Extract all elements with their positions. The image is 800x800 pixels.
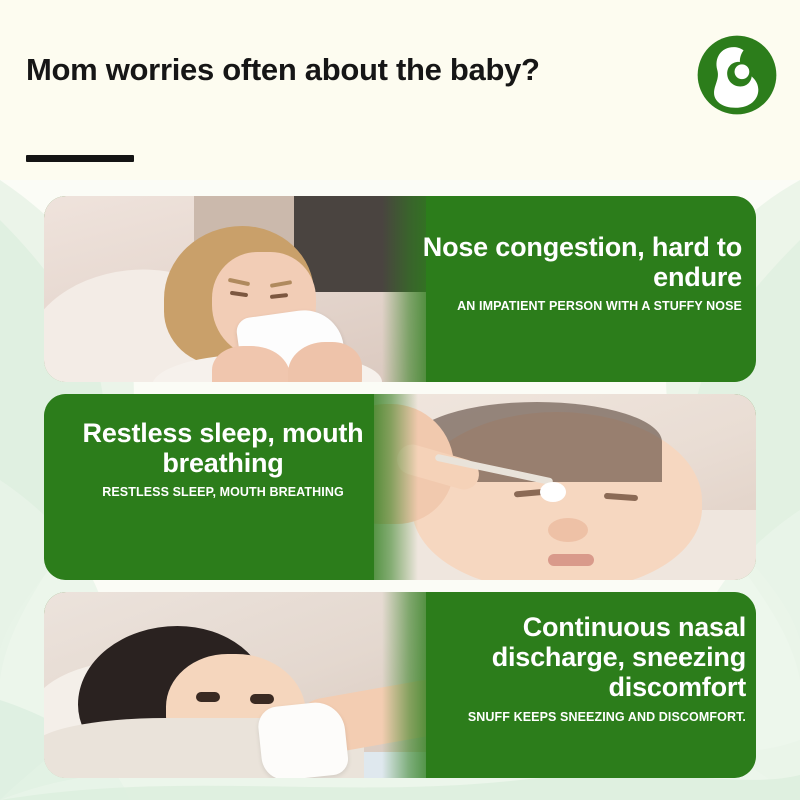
card-nose-congestion[interactable]: Nose congestion, hard to endure AN IMPAT… (44, 196, 756, 382)
card-1-subline: AN IMPATIENT PERSON WITH A STUFFY NOSE (422, 299, 742, 313)
card-3-text-block: Continuous nasal discharge, sneezing dis… (416, 612, 746, 724)
card-restless-sleep[interactable]: Restless sleep, mouth breathing RESTLESS… (44, 394, 756, 580)
page-title: Mom worries often about the baby? (26, 52, 540, 88)
card-2-text-block: Restless sleep, mouth breathing RESTLESS… (60, 418, 386, 499)
poster: Mom worries often about the baby? (0, 0, 800, 800)
card-2-subline: RESTLESS SLEEP, MOUTH BREATHING (60, 485, 386, 499)
card-continuous-nasal-discharge[interactable]: Continuous nasal discharge, sneezing dis… (44, 592, 756, 778)
card-1-text-block: Nose congestion, hard to endure AN IMPAT… (422, 232, 742, 313)
card-3-headline: Continuous nasal discharge, sneezing dis… (416, 612, 746, 703)
card-2-headline: Restless sleep, mouth breathing (60, 418, 386, 478)
card-3-subline: SNUFF KEEPS SNEEZING AND DISCOMFORT. (416, 710, 746, 724)
mother-and-baby-logo-icon (696, 34, 778, 116)
title-underline (26, 155, 134, 162)
card-1-headline: Nose congestion, hard to endure (422, 232, 742, 292)
